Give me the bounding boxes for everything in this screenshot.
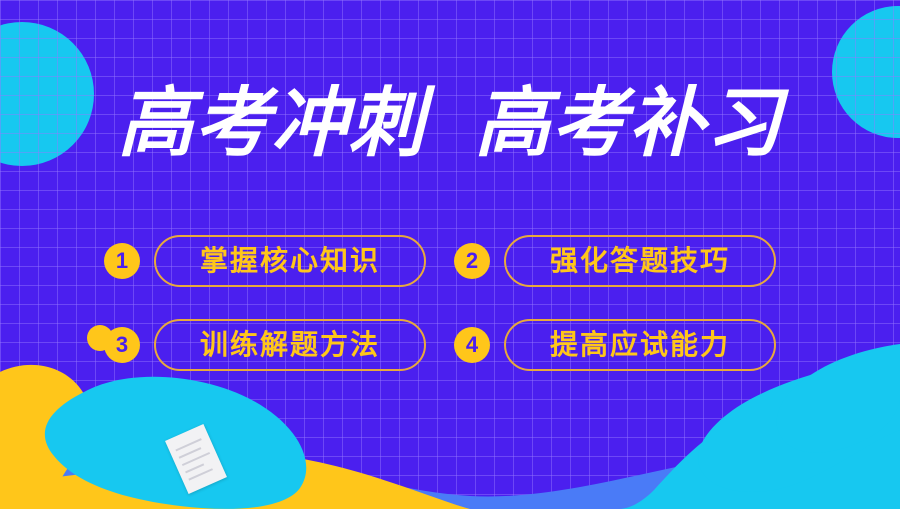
- feature-item-3[interactable]: 3 训练解题方法: [104, 303, 454, 387]
- feature-item-4[interactable]: 4 提高应试能力: [454, 303, 804, 387]
- poster-canvas: 高考冲刺 高考补习 1 掌握核心知识 2 强化答题技巧 3 训练解题方法: [0, 0, 900, 509]
- feature-label-4: 提高应试能力: [550, 331, 730, 359]
- poster-content: 高考冲刺 高考补习 1 掌握核心知识 2 强化答题技巧 3 训练解题方法: [0, 0, 900, 509]
- feature-label-2: 强化答题技巧: [550, 247, 730, 275]
- feature-pill-3[interactable]: 训练解题方法: [154, 319, 426, 371]
- main-title: 高考冲刺 高考补习: [0, 86, 900, 162]
- feature-item-1[interactable]: 1 掌握核心知识: [104, 219, 454, 303]
- number-badge-3: 3: [104, 327, 140, 363]
- feature-pill-2[interactable]: 强化答题技巧: [504, 235, 776, 287]
- feature-item-2[interactable]: 2 强化答题技巧: [454, 219, 804, 303]
- feature-list: 1 掌握核心知识 2 强化答题技巧 3 训练解题方法 4: [104, 219, 804, 387]
- title-part-1: 高考冲刺: [118, 86, 426, 162]
- number-badge-1: 1: [104, 243, 140, 279]
- title-part-2: 高考补习: [474, 86, 782, 162]
- feature-label-1: 掌握核心知识: [200, 247, 380, 275]
- number-badge-4: 4: [454, 327, 490, 363]
- feature-label-3: 训练解题方法: [200, 331, 380, 359]
- number-badge-2: 2: [454, 243, 490, 279]
- feature-pill-4[interactable]: 提高应试能力: [504, 319, 776, 371]
- feature-pill-1[interactable]: 掌握核心知识: [154, 235, 426, 287]
